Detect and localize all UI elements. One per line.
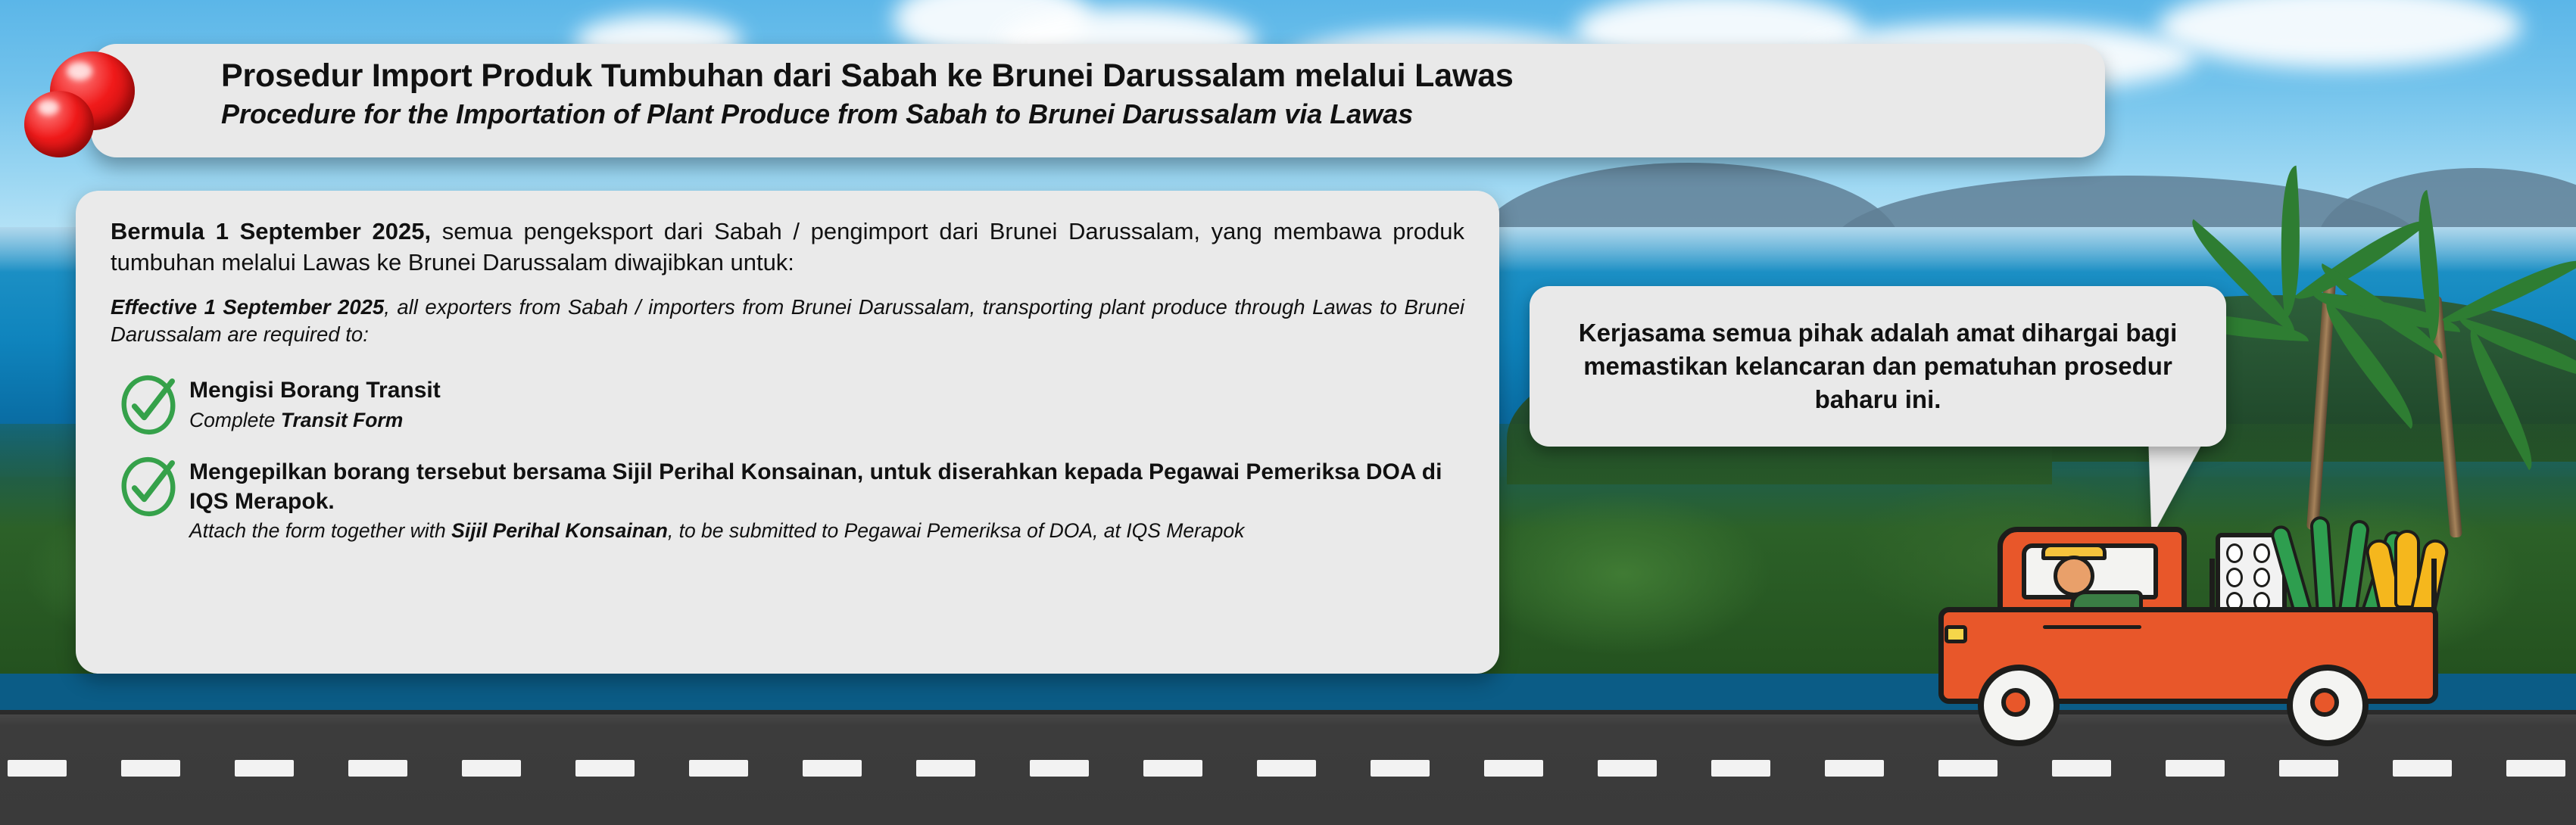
pickup-truck-with-produce-icon [1908, 477, 2506, 746]
intro-paragraph-ms: Bermula 1 September 2025, semua pengeksp… [111, 216, 1464, 279]
list-item: Mengisi Borang Transit Complete Transit … [111, 373, 1464, 440]
list-item-en: Complete Transit Form [189, 408, 1464, 434]
intro-en-date: Effective 1 September 2025 [111, 295, 384, 319]
list-item-en-pre: Complete [189, 409, 281, 431]
intro-ms-date: Bermula 1 September 2025, [111, 218, 431, 244]
list-item: Mengepilkan borang tersebut bersama Siji… [111, 455, 1464, 544]
truck-wheel [2287, 665, 2369, 746]
intro-paragraph-en: Effective 1 September 2025, all exporter… [111, 294, 1464, 348]
speech-bubble: Kerjasama semua pihak adalah amat diharg… [1530, 286, 2226, 447]
truck-door-line [2043, 625, 2141, 629]
green-check-circle-icon [111, 370, 189, 440]
list-item-en: Attach the form together with Sijil Peri… [189, 518, 1464, 544]
title-banner: Prosedur Import Produk Tumbuhan dari Sab… [91, 44, 2105, 157]
green-check-circle-icon [111, 452, 189, 521]
road-dashed-line [0, 760, 2576, 777]
list-item-text: Mengepilkan borang tersebut bersama Siji… [189, 455, 1464, 544]
list-item-en-bold: Sijil Perihal Konsainan [451, 519, 668, 542]
list-item-en-post: , to be submitted to Pegawai Pemeriksa o… [668, 519, 1245, 542]
requirements-checklist: Mengisi Borang Transit Complete Transit … [111, 373, 1464, 544]
main-content-panel: Bermula 1 September 2025, semua pengeksp… [76, 191, 1499, 674]
headlight-icon [1944, 625, 1967, 643]
page-title-en: Procedure for the Importation of Plant P… [221, 97, 2072, 131]
page-title-ms: Prosedur Import Produk Tumbuhan dari Sab… [221, 56, 2072, 95]
pushpin-icon [23, 47, 167, 160]
list-item-en-bold: Transit Form [281, 409, 403, 431]
list-item-en-pre: Attach the form together with [189, 519, 451, 542]
list-item-ms: Mengisi Borang Transit [189, 376, 1464, 405]
truck-wheel [1978, 665, 2060, 746]
list-item-ms: Mengepilkan borang tersebut bersama Siji… [189, 458, 1464, 516]
list-item-text: Mengisi Borang Transit Complete Transit … [189, 373, 1464, 433]
speech-bubble-text: Kerjasama semua pihak adalah amat diharg… [1555, 316, 2200, 416]
